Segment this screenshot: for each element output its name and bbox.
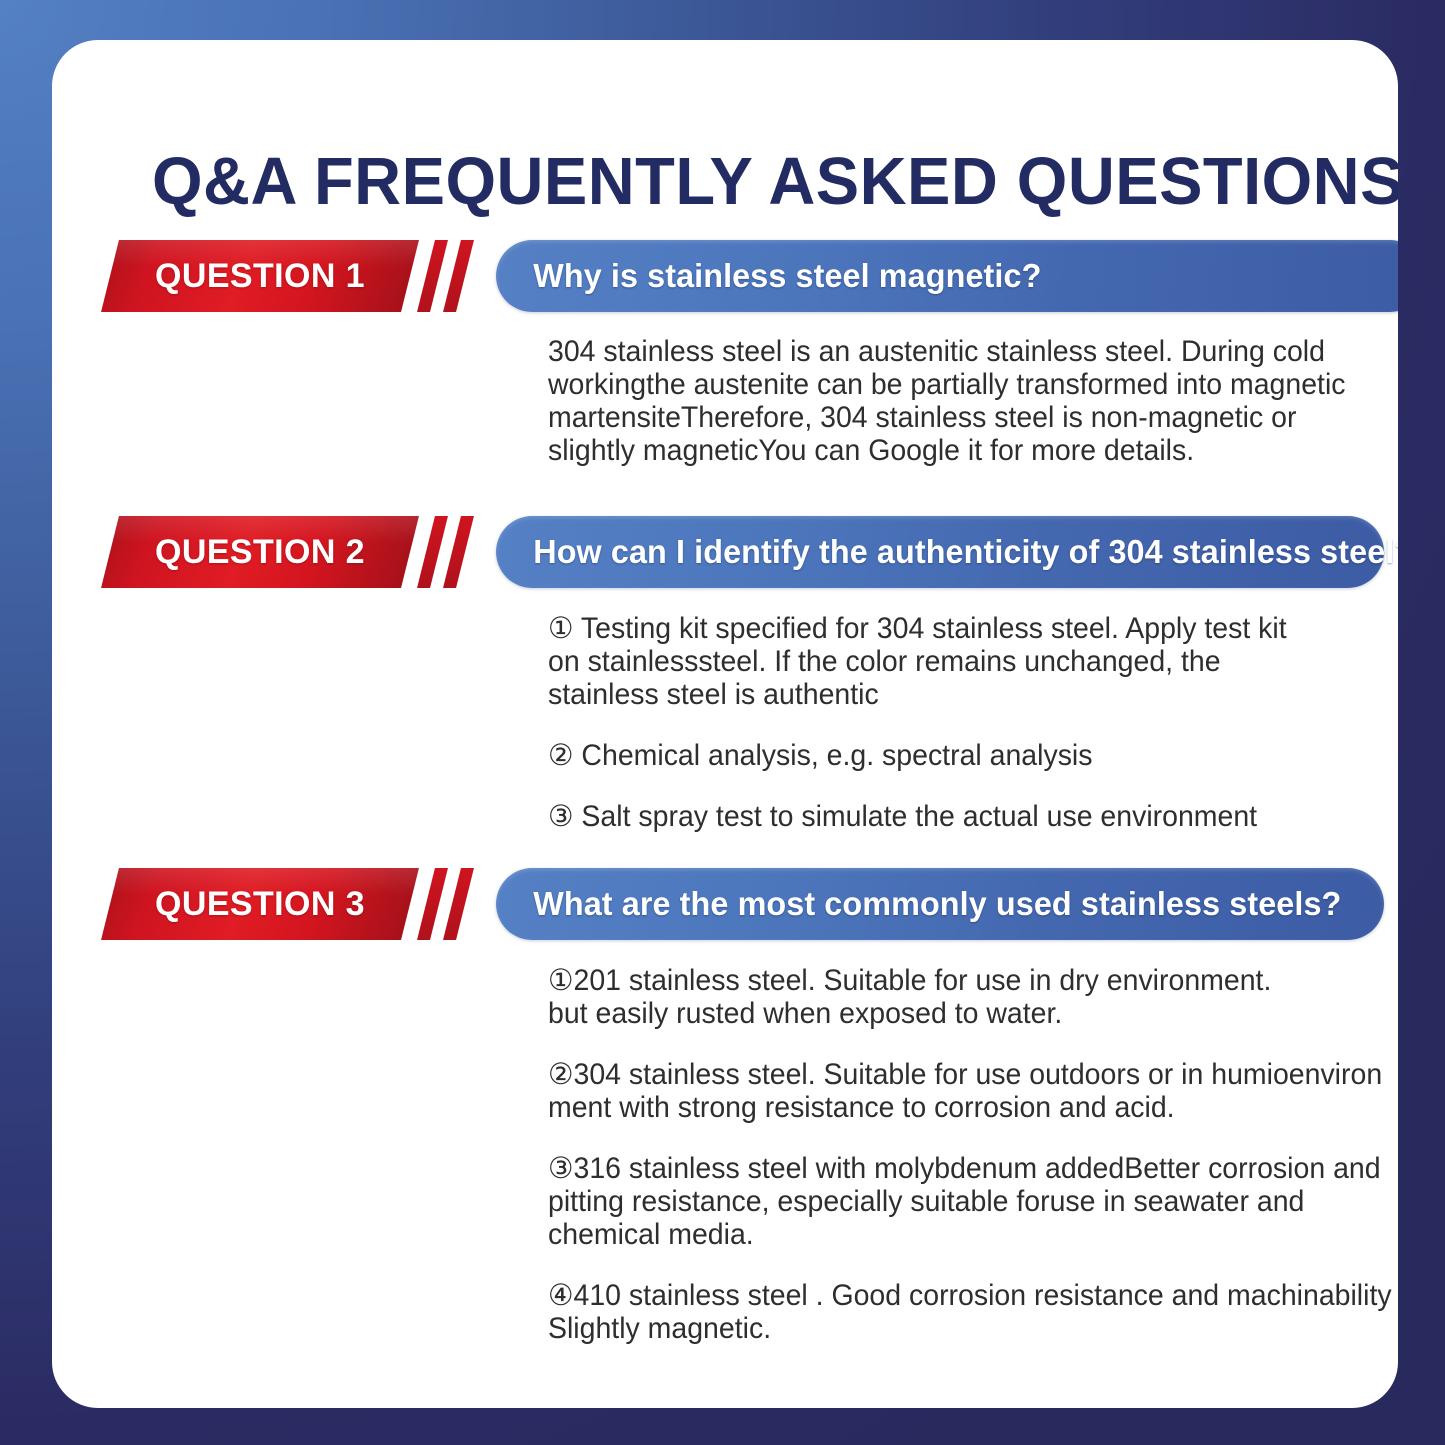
answer-paragraph: ②304 stainless steel. Suitable for use o… xyxy=(548,1058,1397,1124)
question-tag-label-3: QUESTION 3 xyxy=(110,868,410,940)
faq-card: Q&A FREQUENTLY ASKED QUESTIONS QUESTION … xyxy=(52,40,1398,1408)
answer-body-3: ①201 stainless steel. Suitable for use i… xyxy=(548,964,1398,1345)
question-tag-2[interactable]: QUESTION 2 xyxy=(101,516,419,588)
question-tag-3[interactable]: QUESTION 3 xyxy=(101,868,419,940)
faq-item-1: QUESTION 1 Why is stainless steel magnet… xyxy=(52,240,1398,312)
question-text-2: How can I identify the authenticity of 3… xyxy=(496,533,1398,571)
faq-header-3: QUESTION 3 What are the most commonly us… xyxy=(52,868,1398,940)
question-tag-1[interactable]: QUESTION 1 xyxy=(101,240,419,312)
question-text-1: Why is stainless steel magnetic? xyxy=(496,257,1069,295)
answer-paragraph: ①201 stainless steel. Suitable for use i… xyxy=(548,964,1397,1030)
faq-item-3: QUESTION 3 What are the most commonly us… xyxy=(52,868,1398,940)
question-tag-label-2: QUESTION 2 xyxy=(110,516,410,588)
answer-paragraph: ③316 stainless steel with molybdenum add… xyxy=(548,1152,1397,1251)
page-title: Q&A FREQUENTLY ASKED QUESTIONS xyxy=(152,147,1316,217)
answer-paragraph: ① Testing kit specified for 304 stainles… xyxy=(548,612,1320,711)
question-tag-label-1: QUESTION 1 xyxy=(110,240,410,312)
question-pill-1[interactable]: Why is stainless steel magnetic? xyxy=(496,240,1398,312)
slash-divider-icon xyxy=(417,868,448,940)
slash-divider-icon xyxy=(443,868,474,940)
answer-paragraph: ③ Salt spray test to simulate the actual… xyxy=(548,800,1320,833)
slash-divider-icon xyxy=(417,240,448,312)
slash-divider-icon xyxy=(443,516,474,588)
answer-paragraph: ④410 stainless steel . Good corrosion re… xyxy=(548,1279,1397,1345)
slash-divider-icon xyxy=(417,516,448,588)
answer-paragraph: ② Chemical analysis, e.g. spectral analy… xyxy=(548,739,1320,772)
answer-body-1: 304 stainless steel is an austenitic sta… xyxy=(548,335,1398,467)
question-text-3: What are the most commonly used stainles… xyxy=(496,885,1369,923)
answer-paragraph: 304 stainless steel is an austenitic sta… xyxy=(548,335,1378,467)
faq-header-1: QUESTION 1 Why is stainless steel magnet… xyxy=(52,240,1398,312)
faq-item-2: QUESTION 2 How can I identify the authen… xyxy=(52,516,1398,588)
question-pill-3[interactable]: What are the most commonly used stainles… xyxy=(496,868,1384,940)
infographic-background: Q&A FREQUENTLY ASKED QUESTIONS QUESTION … xyxy=(0,0,1445,1445)
faq-header-2: QUESTION 2 How can I identify the authen… xyxy=(52,516,1398,588)
answer-body-2: ① Testing kit specified for 304 stainles… xyxy=(548,612,1348,833)
question-pill-2[interactable]: How can I identify the authenticity of 3… xyxy=(496,516,1384,588)
slash-divider-icon xyxy=(443,240,474,312)
